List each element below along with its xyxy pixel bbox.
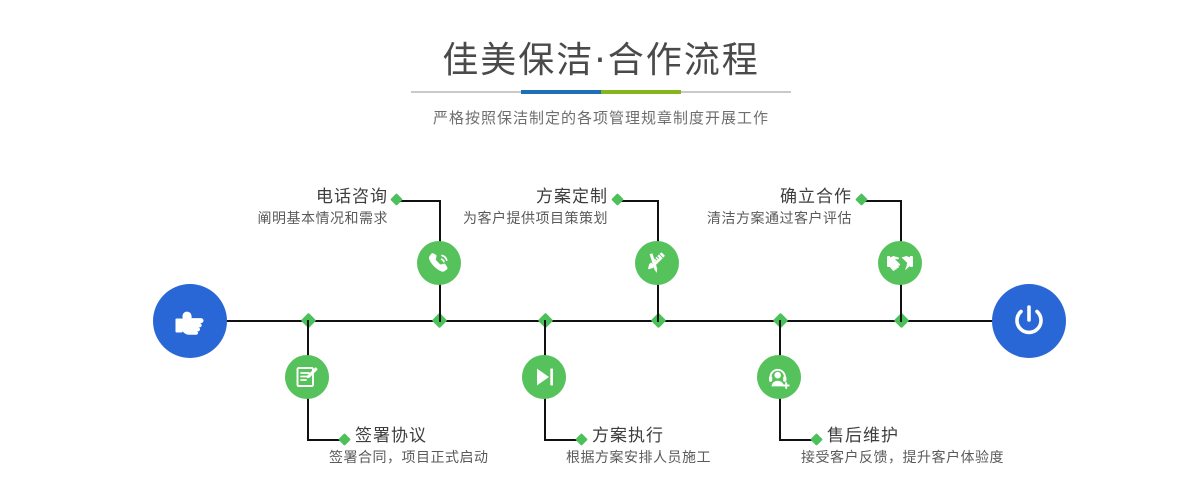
power-icon (1008, 300, 1050, 342)
step-title-3: 方案定制 (380, 186, 608, 208)
step-node-1[interactable] (417, 241, 461, 285)
divider-blue-segment (521, 90, 601, 94)
step-node-5[interactable] (878, 241, 922, 285)
timeline-end-node[interactable] (992, 284, 1066, 358)
step-desc-6: 接受客户反馈，提升客户体验度 (801, 447, 1127, 469)
step-label-1: 电话咨询 阐明基本情况和需求 (160, 186, 388, 230)
play-execute-icon (531, 364, 557, 390)
page-title: 佳美保洁·合作流程 (0, 38, 1202, 84)
step-node-6[interactable] (757, 355, 801, 399)
title-divider (411, 91, 791, 93)
customer-service-icon (766, 364, 792, 390)
page-subtitle: 严格按照保洁制定的各项管理规章制度开展工作 (0, 106, 1202, 130)
handshake-icon (886, 249, 914, 277)
step-desc-5: 清洁方案通过客户评估 (620, 208, 852, 230)
step-title-5: 确立合作 (620, 186, 852, 208)
step-title-2: 签署协议 (355, 425, 615, 447)
step-node-3[interactable] (635, 241, 679, 285)
pencil-ruler-icon (644, 250, 670, 276)
step-title-6: 售后维护 (827, 425, 1127, 447)
connector-hline-5 (864, 200, 902, 202)
step-desc-1: 阐明基本情况和需求 (160, 208, 388, 230)
step-node-4[interactable] (522, 355, 566, 399)
divider-green-segment (601, 90, 681, 94)
process-flow-infographic: 佳美保洁·合作流程 严格按照保洁制定的各项管理规章制度开展工作 (0, 0, 1202, 502)
timeline-axis (155, 320, 1047, 322)
pointing-hand-icon (170, 301, 210, 341)
timeline-start-node[interactable] (153, 284, 227, 358)
step-title-1: 电话咨询 (160, 186, 388, 208)
label-marker-5 (855, 193, 868, 206)
document-pen-icon (294, 364, 320, 390)
step-desc-3: 为客户提供项目策策划 (380, 208, 608, 230)
step-node-2[interactable] (285, 355, 329, 399)
phone-call-icon (426, 250, 452, 276)
step-label-5: 确立合作 清洁方案通过客户评估 (620, 186, 852, 230)
step-label-6: 售后维护 接受客户反馈，提升客户体验度 (827, 425, 1127, 469)
step-label-3: 方案定制 为客户提供项目策策划 (380, 186, 608, 230)
label-marker-2 (338, 433, 351, 446)
